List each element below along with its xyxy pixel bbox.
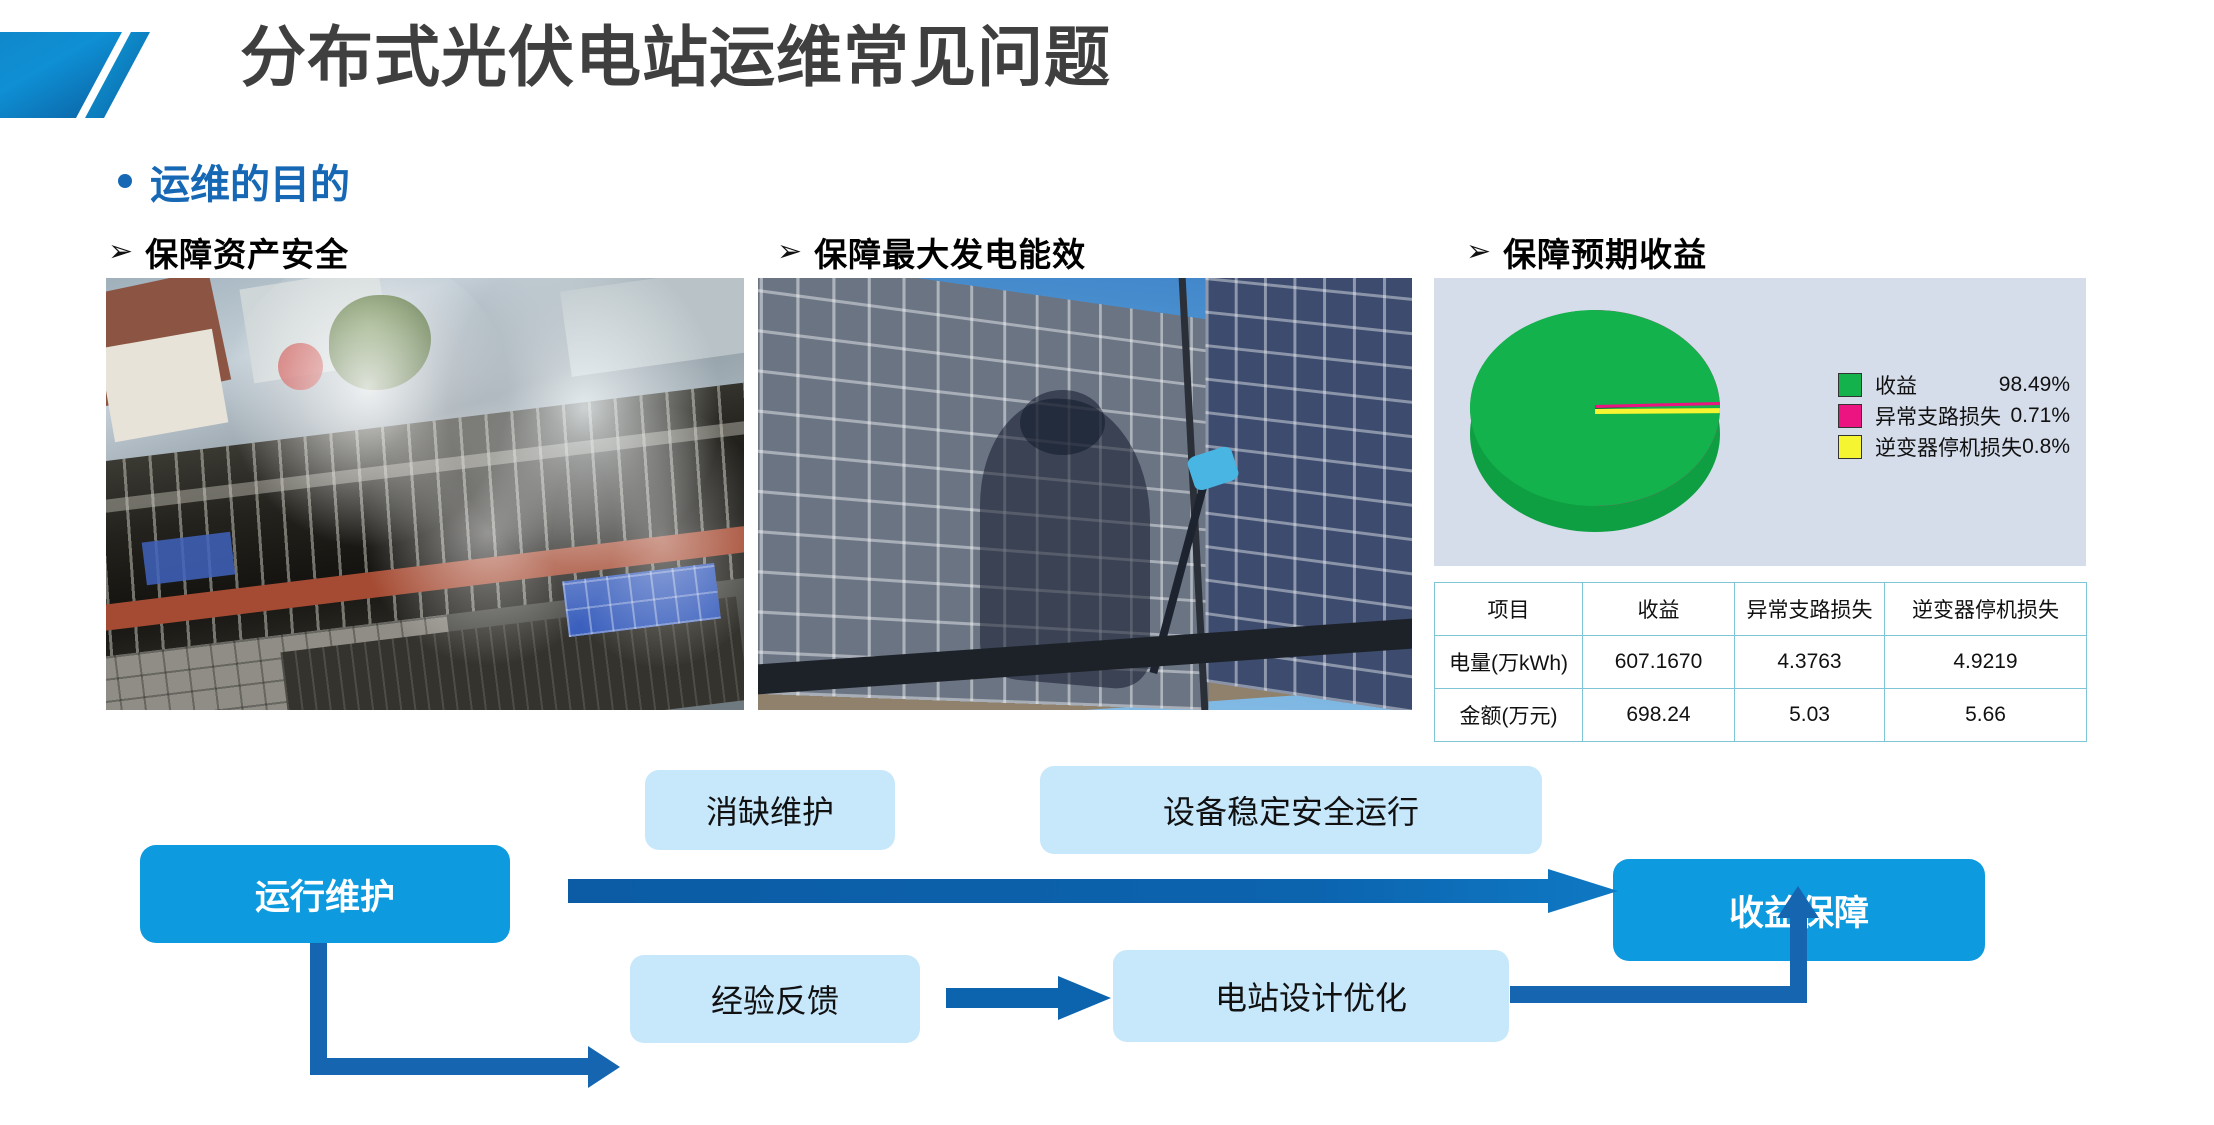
subheading-label: 保障资产安全: [145, 228, 349, 276]
table-cell: 5.03: [1735, 689, 1885, 742]
subheading-max-generation: ➢ 保障最大发电能效: [777, 228, 1086, 276]
table-row-label: 金额(万元): [1435, 689, 1583, 742]
flow-box-operation-maintenance: 运行维护: [140, 845, 510, 943]
legend-swatch-icon: [1838, 404, 1862, 428]
table-row-label: 电量(万kWh): [1435, 636, 1583, 689]
subheading-label: 保障预期收益: [1503, 228, 1707, 276]
revenue-pie-chart-panel: 收益 98.49% 异常支路损失 0.71% 逆变器停机损失 0.8%: [1434, 278, 2086, 566]
legend-item-inverter-loss: 逆变器停机损失 0.8%: [1838, 434, 2070, 459]
table-column-header: 项目: [1435, 583, 1583, 636]
parallelogram-logo: [0, 30, 230, 120]
table-cell: 698.24: [1583, 689, 1735, 742]
table-cell: 607.1670: [1583, 636, 1735, 689]
pie-chart: [1462, 292, 1730, 554]
flow-connector-vertical: [1790, 918, 1807, 1003]
table-cell: 4.9219: [1885, 636, 2087, 689]
fire-damaged-rooftop-pv-photo: [106, 278, 744, 710]
legend-label: 异常支路损失: [1875, 401, 2001, 431]
subheading-asset-safety: ➢ 保障资产安全: [108, 228, 349, 276]
page-title: 分布式光伏电站运维常见问题: [240, 16, 1111, 99]
legend-value: 98.49%: [1999, 373, 2070, 397]
flow-connector-horizontal: [1510, 986, 1798, 1003]
pie-legend: 收益 98.49% 异常支路损失 0.71% 逆变器停机损失 0.8%: [1838, 372, 2070, 465]
legend-item-branch-loss: 异常支路损失 0.71%: [1838, 403, 2070, 428]
flow-connector-vertical: [310, 943, 327, 1075]
subheading-label: 保障最大发电能效: [814, 228, 1086, 276]
slide-canvas: 分布式光伏电站运维常见问题 运维的目的 ➢ 保障资产安全 ➢ 保障最大发电能效 …: [0, 0, 2214, 1125]
table-row: 金额(万元) 698.24 5.03 5.66: [1435, 689, 2087, 742]
revenue-data-table: 项目 收益 异常支路损失 逆变器停机损失 电量(万kWh) 607.1670 4…: [1434, 582, 2087, 742]
flow-box-defect-maintenance: 消缺维护: [645, 770, 895, 850]
solar-panel-cleaning-photo: [758, 278, 1412, 710]
flow-connector-horizontal: [310, 1058, 595, 1075]
legend-value: 0.71%: [2010, 404, 2070, 428]
flow-arrowhead-up-icon: [1777, 886, 1819, 918]
legend-swatch-icon: [1838, 435, 1862, 459]
legend-label: 收益: [1875, 370, 1917, 400]
subheading-expected-revenue: ➢ 保障预期收益: [1466, 228, 1707, 276]
pie-slice-inverter-loss: [1595, 408, 1720, 414]
flow-box-experience-feedback: 经验反馈: [630, 955, 920, 1043]
legend-value: 0.8%: [2022, 435, 2070, 459]
legend-label: 逆变器停机损失: [1875, 432, 2022, 462]
flow-arrowhead-right-icon: [588, 1046, 620, 1088]
photo-worker-shadow: [1020, 390, 1105, 455]
legend-item-revenue: 收益 98.49%: [1838, 372, 2070, 397]
table-cell: 5.66: [1885, 689, 2087, 742]
flow-box-plant-design-optimization: 电站设计优化: [1113, 950, 1509, 1042]
flow-arrow-feedback-to-design: [946, 976, 1111, 1020]
legend-swatch-icon: [1838, 373, 1862, 397]
section-bullet-label: 运维的目的: [150, 152, 350, 210]
chevron-right-icon: ➢: [108, 237, 133, 267]
section-bullet: 运维的目的: [118, 152, 350, 210]
table-column-header: 逆变器停机损失: [1885, 583, 2087, 636]
table-column-header: 异常支路损失: [1735, 583, 1885, 636]
bullet-dot-icon: [118, 174, 132, 188]
chevron-right-icon: ➢: [777, 237, 802, 267]
chevron-right-icon: ➢: [1466, 237, 1491, 267]
table-header-row: 项目 收益 异常支路损失 逆变器停机损失: [1435, 583, 2087, 636]
table-row: 电量(万kWh) 607.1670 4.3763 4.9219: [1435, 636, 2087, 689]
table-column-header: 收益: [1583, 583, 1735, 636]
table-cell: 4.3763: [1735, 636, 1885, 689]
flow-arrow-main-right: [568, 869, 1618, 913]
flow-box-stable-operation: 设备稳定安全运行: [1040, 766, 1542, 854]
pie-3d-top: [1470, 310, 1720, 506]
